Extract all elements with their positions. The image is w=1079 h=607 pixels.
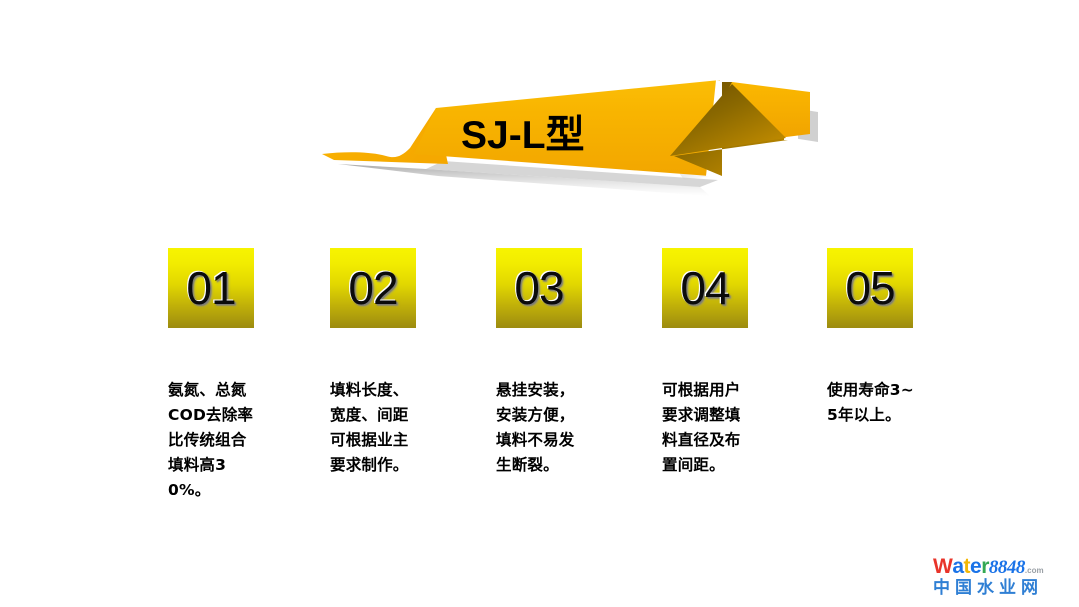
number-label: 04 [680,265,729,311]
watermark-wordmark: Water8848.com [933,556,1071,577]
number-badge-01: 01 [168,248,254,328]
number-label: 01 [186,265,235,311]
watermark-chinese: 中国水业网 [933,580,1071,597]
number-badge-05: 05 [827,248,913,328]
banner-main [414,80,720,176]
feature-column-3: 03 悬挂安装，安装方便，填料不易发生断裂。 [496,248,582,328]
number-badge-03: 03 [496,248,582,328]
banner-shape [318,68,838,203]
feature-text-2: 填料长度、宽度、间距可根据业主要求制作。 [330,378,422,478]
feature-text-4: 可根据用户要求调整填料直径及布置间距。 [662,378,754,478]
logo-dotcom: .com [1025,566,1044,575]
logo-letter-w: W [933,556,952,577]
feature-text-5: 使用寿命3~5年以上。 [827,378,919,428]
feature-column-4: 04 可根据用户要求调整填料直径及布置间距。 [662,248,748,328]
banner: SJ-L型 [318,68,838,203]
number-label: 03 [514,265,563,311]
logo-letter-r: r [981,556,989,577]
logo-digits: 8848 [989,557,1025,578]
logo-letter-a: a [952,556,963,577]
feature-column-1: 01 氨氮、总氮 COD去除率比传统组合填料高30%。 [168,248,254,328]
slide-canvas: SJ-L型 01 氨氮、总氮 COD去除率比传统组合填料高30%。 02 填料长… [0,0,1079,607]
number-badge-04: 04 [662,248,748,328]
number-label: 05 [845,265,894,311]
feature-columns: 01 氨氮、总氮 COD去除率比传统组合填料高30%。 02 填料长度、宽度、间… [168,248,913,548]
number-badge-02: 02 [330,248,416,328]
feature-text-3: 悬挂安装，安装方便，填料不易发生断裂。 [496,378,588,478]
number-label: 02 [348,265,397,311]
logo-letter-e: e [970,556,981,577]
feature-text-1: 氨氮、总氮 COD去除率比传统组合填料高30%。 [168,378,260,504]
feature-column-2: 02 填料长度、宽度、间距可根据业主要求制作。 [330,248,416,328]
watermark-logo: Water8848.com 中国水业网 [933,556,1071,597]
feature-column-5: 05 使用寿命3~5年以上。 [827,248,913,328]
